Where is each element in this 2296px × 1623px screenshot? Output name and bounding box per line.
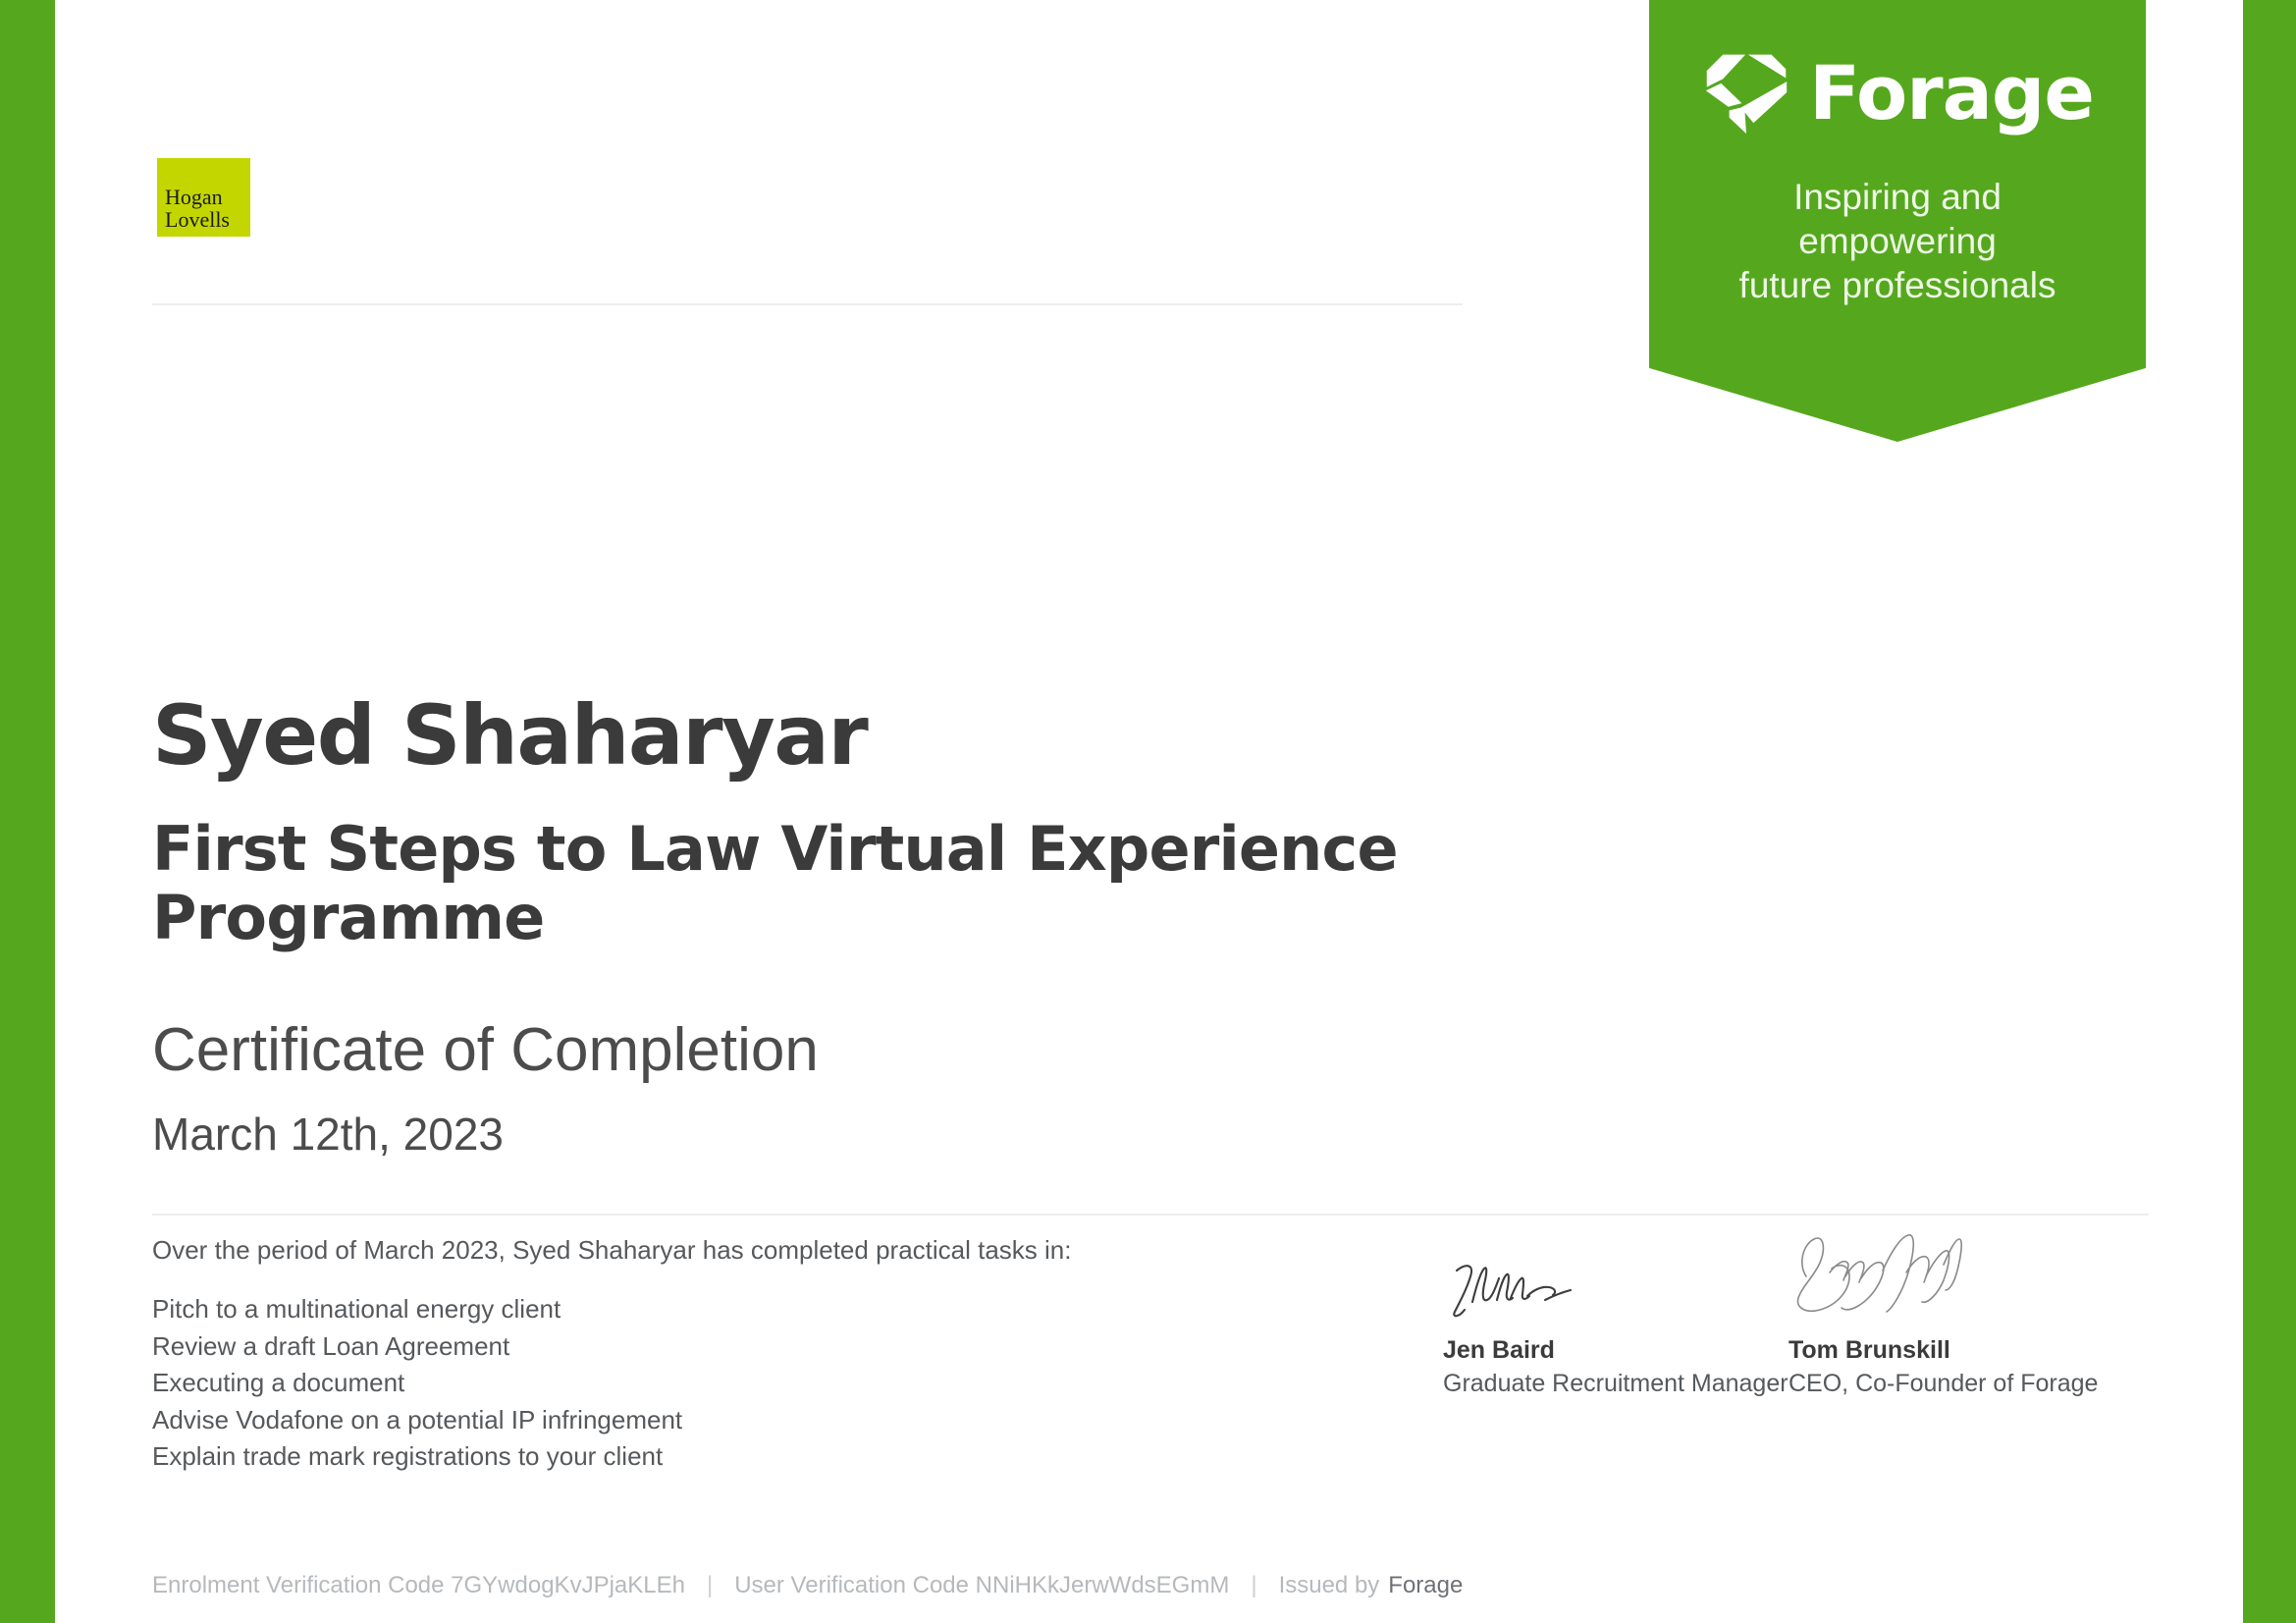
certificate-kind: Certificate of Completion: [152, 1017, 819, 1084]
handwritten-signature-icon: [1443, 1257, 1580, 1324]
forage-tagline-line-3: future professionals: [1688, 263, 2107, 307]
issuer-name: Forage: [1379, 1572, 1463, 1599]
header-divider: [152, 303, 1463, 305]
signature-area: Jen Baird Graduate Recruitment Manager: [1443, 1225, 2083, 1398]
task-list: Pitch to a multinational energy client R…: [152, 1291, 682, 1476]
list-item: Pitch to a multinational energy client: [152, 1291, 682, 1328]
certificate-date: March 12th, 2023: [152, 1109, 504, 1160]
list-item: Executing a document: [152, 1365, 682, 1402]
signer-name: Tom Brunskill: [1789, 1335, 2083, 1365]
forage-wordmark: Forage: [1809, 56, 2094, 131]
signer-role: CEO, Co-Founder of Forage: [1789, 1369, 2083, 1398]
signature-block-jen-baird: Jen Baird Graduate Recruitment Manager: [1443, 1225, 1737, 1398]
signer-role: Graduate Recruitment Manager: [1443, 1369, 1737, 1398]
tasks-intro: Over the period of March 2023, Syed Shah…: [152, 1235, 1071, 1266]
signature-mark-jen-baird: [1443, 1225, 1737, 1324]
hogan-lovells-logo-text: Hogan Lovells: [165, 186, 230, 231]
recipient-name: Syed Shaharyar: [152, 692, 867, 779]
footer-separator-2: |: [1229, 1572, 1278, 1599]
user-verification-code: User Verification Code NNiHKkJerwWdsEGmM: [734, 1572, 1229, 1599]
enrolment-verification-code: Enrolment Verification Code 7GYwdogKvJPj…: [152, 1572, 685, 1599]
left-green-border: [0, 0, 55, 1623]
forage-logo-lockup: Forage: [1649, 0, 2146, 135]
right-green-border: [2243, 0, 2296, 1623]
forage-tagline: Inspiring and empowering future professi…: [1649, 175, 2146, 307]
certificate-page: Forage Inspiring and empowering future p…: [0, 0, 2296, 1623]
hogan-lovells-logo: Hogan Lovells: [157, 158, 250, 237]
signer-name: Jen Baird: [1443, 1335, 1737, 1365]
programme-title: First Steps to Law Virtual Experience Pr…: [152, 815, 1801, 952]
tasks-divider: [152, 1214, 2149, 1216]
forage-banner: Forage Inspiring and empowering future p…: [1649, 0, 2146, 442]
list-item: Advise Vodafone on a potential IP infrin…: [152, 1402, 682, 1439]
verification-footer: Enrolment Verification Code 7GYwdogKvJPj…: [152, 1572, 1463, 1599]
forage-tagline-line-1: Inspiring and: [1688, 175, 2107, 219]
signature-mark-tom-brunskill: [1789, 1225, 2083, 1324]
list-item: Review a draft Loan Agreement: [152, 1328, 682, 1366]
footer-separator-1: |: [685, 1572, 734, 1599]
forage-tagline-line-2: empowering: [1688, 219, 2107, 263]
handwritten-signature-icon: [1789, 1225, 1970, 1324]
issued-by-label: Issued by: [1279, 1572, 1380, 1599]
list-item: Explain trade mark registrations to your…: [152, 1438, 682, 1476]
signature-block-tom-brunskill: Tom Brunskill CEO, Co-Founder of Forage: [1789, 1225, 2083, 1398]
forage-diamond-icon: [1701, 51, 1791, 135]
